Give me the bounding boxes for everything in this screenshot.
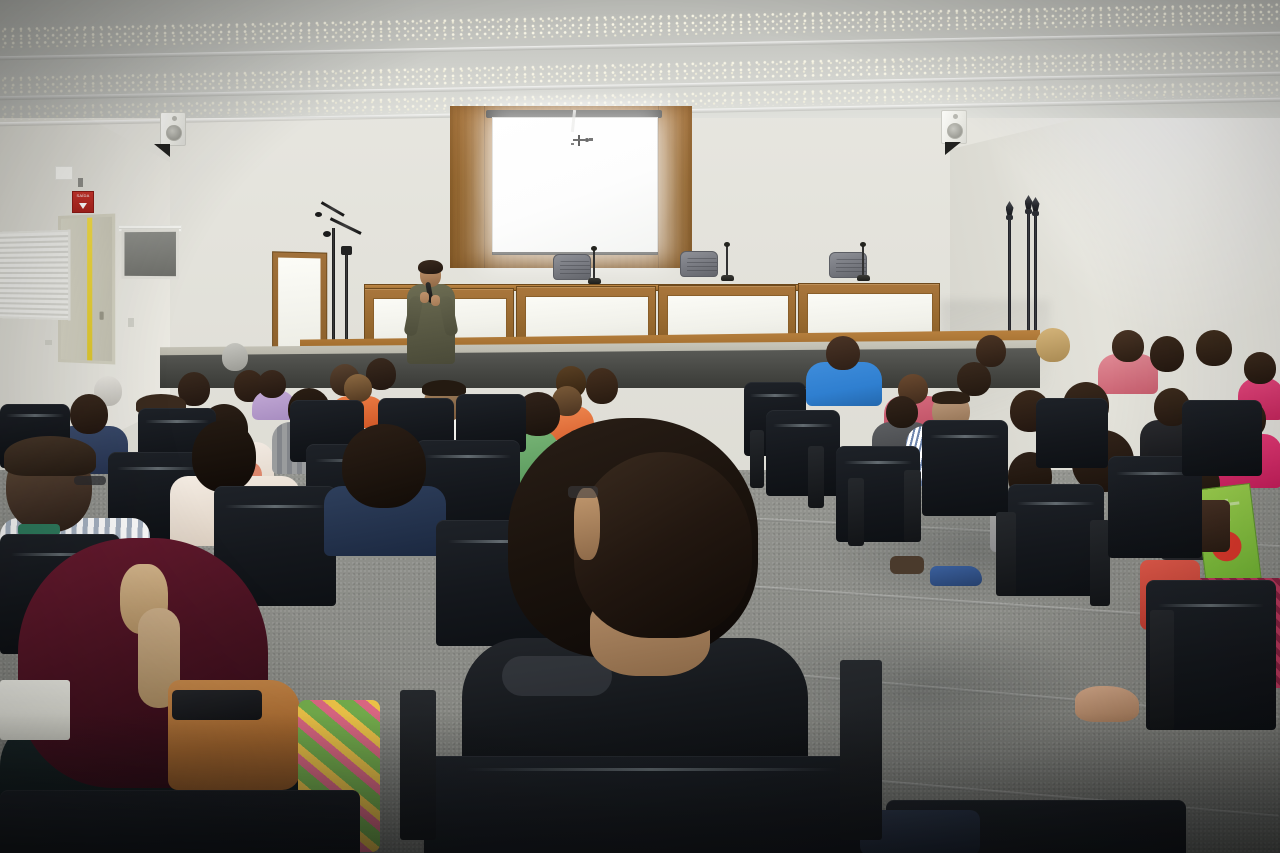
presenter-hand [420, 292, 429, 303]
attendee-dark-hair-man [324, 424, 446, 550]
exit-sign: SAÍDA [72, 191, 94, 213]
attendee-head [976, 335, 1006, 367]
window-with-blinds [0, 230, 70, 321]
attendee-head [222, 343, 248, 371]
mic-boom-arm [321, 201, 345, 217]
perforated-ceiling [0, 0, 1280, 118]
interior-window [122, 229, 179, 279]
attendee-blonde-woman [1036, 328, 1070, 362]
microphone-icon [315, 212, 322, 217]
shirt-collar [502, 656, 612, 696]
slide-content-glyph [570, 134, 594, 148]
attendee-salmon-shirt [1098, 330, 1158, 388]
seat-armrest [848, 478, 864, 546]
speaker-woofer-icon [166, 125, 182, 141]
attendee-head [957, 362, 991, 396]
seat-armrest [996, 512, 1016, 596]
auditorium-seat[interactable] [1036, 398, 1108, 468]
attendee-shoe [930, 566, 982, 586]
exit-arrow-icon [79, 203, 87, 209]
door-yellow-stripe [87, 218, 92, 361]
seat-armrest [1150, 610, 1174, 730]
gooseneck-microphone [593, 250, 595, 280]
mic-stand-secondary-group [320, 0, 380, 370]
seat-armrest [808, 446, 824, 508]
wall-speaker-left [160, 112, 186, 146]
wall-speaker-right [941, 110, 967, 144]
presenter-hand [431, 295, 440, 306]
attendee-foreground-black-shirt [462, 408, 808, 768]
wall-outlet [128, 318, 134, 327]
eyeglasses-icon [568, 486, 598, 498]
mobile-phone [172, 690, 262, 720]
speaker-mount-bracket [945, 142, 961, 155]
panel-chair [678, 251, 720, 283]
seat-armrest [840, 660, 882, 840]
wall-fixture [78, 178, 83, 187]
boom-mic-stand [332, 228, 335, 348]
auditorium-seat[interactable] [0, 790, 360, 853]
auditorium-seat[interactable] [1182, 400, 1262, 476]
door-handle[interactable] [100, 312, 104, 320]
gooseneck-microphone [726, 246, 728, 277]
wall-outlet [45, 340, 52, 345]
eyeglasses-icon [74, 476, 106, 485]
paper-notebook [0, 680, 70, 740]
speaker-woofer-icon [947, 123, 963, 139]
presenter [404, 262, 458, 364]
attendee-head [1196, 330, 1232, 366]
auditorium-scene: SAÍDA [0, 0, 1280, 853]
wall-plate [55, 166, 73, 180]
auditorium-seat[interactable] [922, 420, 1008, 516]
seat-armrest [400, 690, 436, 840]
attendee-head [1150, 336, 1184, 372]
exit-sign-label: SAÍDA [76, 194, 89, 198]
hair [574, 452, 752, 638]
speaker-mount-bracket [154, 144, 170, 157]
seat-armrest [904, 470, 921, 542]
speaker-tweeter-icon [953, 114, 958, 119]
speaker-tweeter-icon [172, 116, 177, 121]
attendee-blue-tshirt [806, 336, 882, 402]
gooseneck-microphone [862, 246, 864, 277]
seat-armrest [1090, 520, 1110, 606]
ear [574, 488, 600, 560]
auditorium-seat[interactable] [424, 756, 878, 853]
presenter-hair [418, 260, 443, 274]
panel-chair [551, 254, 593, 286]
attendee-leg [1075, 686, 1139, 722]
attendee-shoe [890, 556, 924, 574]
